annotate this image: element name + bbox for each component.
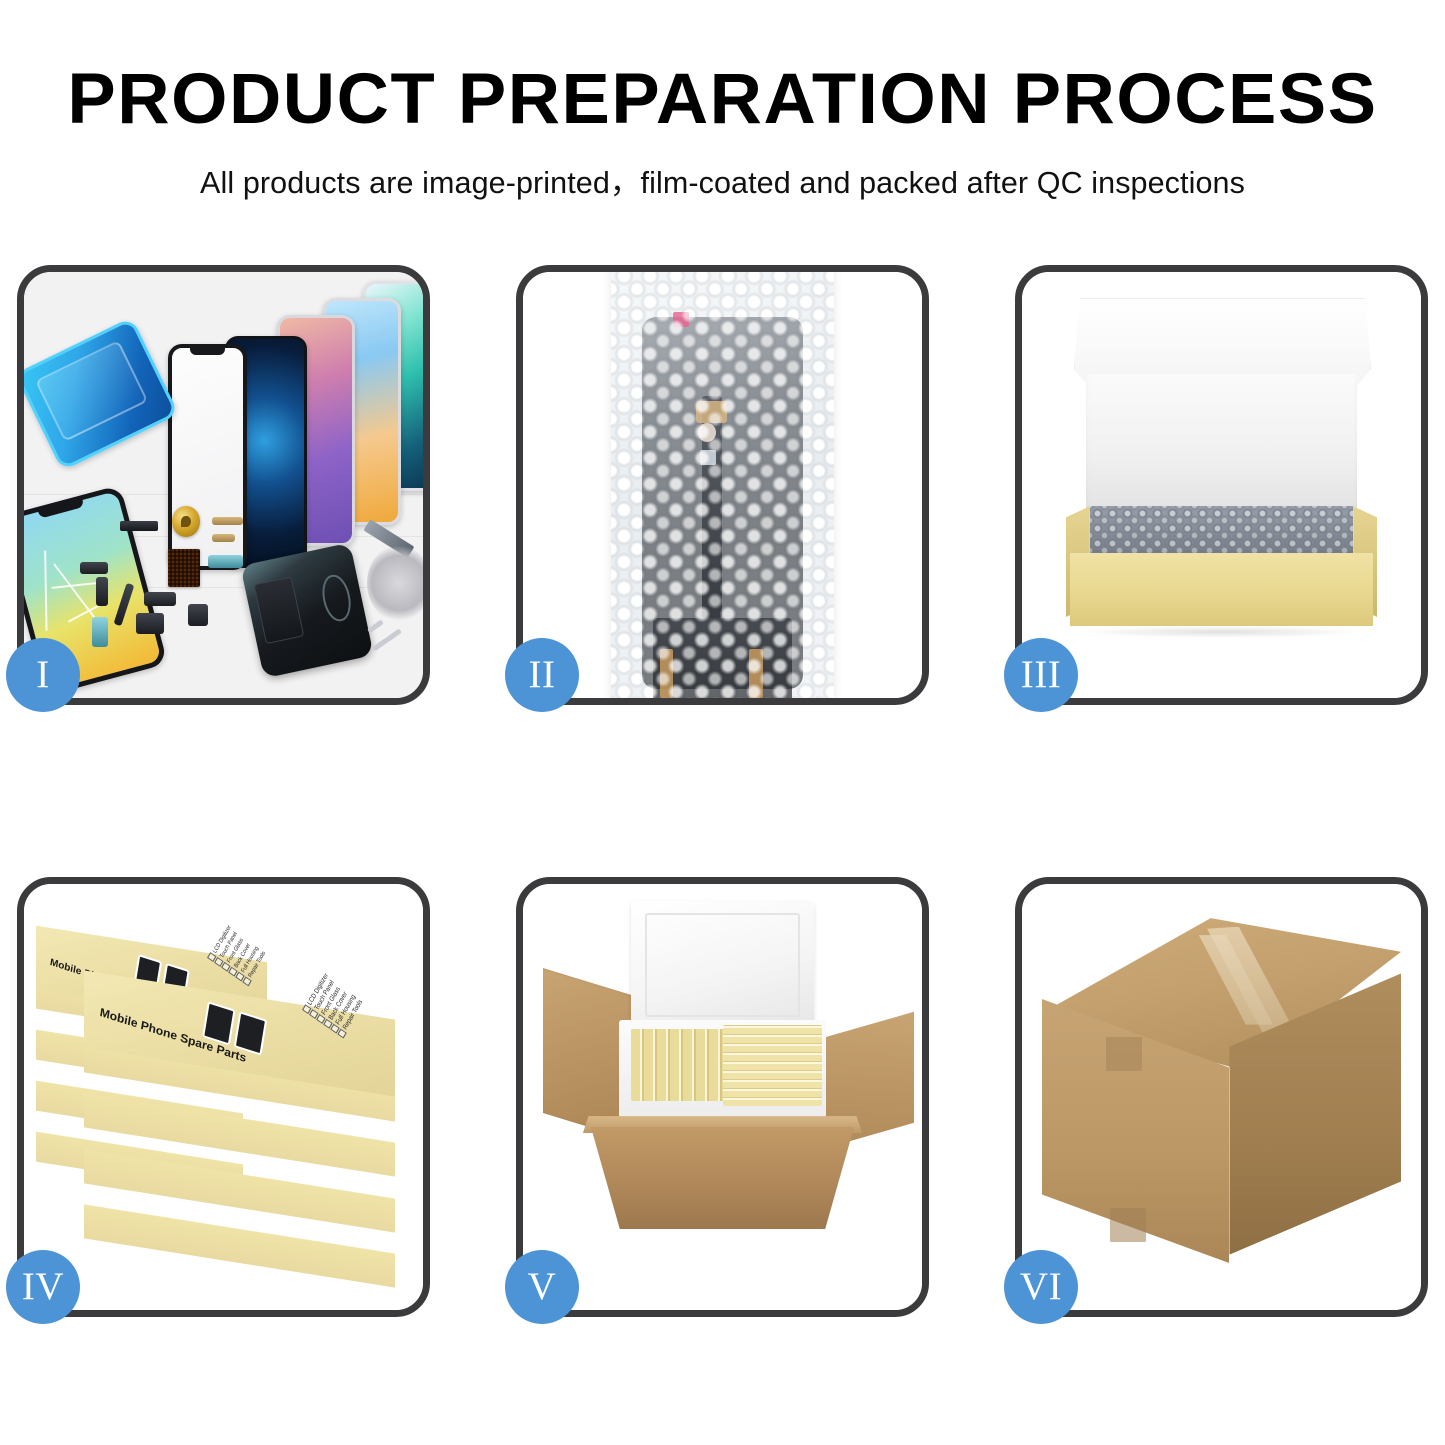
flex-cable-1	[212, 517, 244, 525]
phone-parts-scene	[24, 272, 423, 698]
box-checklist-rear: LCD Digitizer Touch Panel Front Glass Ba…	[207, 924, 268, 987]
earpiece-mesh-component	[120, 521, 158, 531]
step-badge-2: II	[505, 638, 579, 712]
step-4-image: Mobile Phone Spare Parts LCD Digitizer T…	[24, 884, 423, 1310]
qc-label-sticker	[673, 312, 689, 327]
box-checklist-front: LCD Digitizer Touch Panel Front Glass Ba…	[302, 971, 365, 1037]
sensor-module	[188, 604, 208, 625]
adhesive-back-frame	[24, 317, 179, 471]
carton-body	[591, 1127, 854, 1229]
wrapped-tab-right	[749, 649, 762, 698]
step-badge-1: I	[6, 638, 80, 712]
sealed-carton-scene	[1022, 884, 1421, 1310]
front-glass-panel	[168, 344, 248, 569]
step-badge-3: III	[1004, 638, 1078, 712]
step-5-image	[523, 884, 922, 1310]
styrofoam-lid	[631, 901, 815, 1029]
teal-flex-cable	[208, 555, 244, 568]
wrapped-lcd-base	[653, 618, 792, 698]
open-box-scene	[1022, 272, 1421, 698]
carton-packing-scene	[523, 884, 922, 1310]
step-2-image	[523, 272, 922, 698]
box-thumb-4	[234, 1011, 267, 1055]
wrapped-ic-pad	[700, 450, 716, 466]
connector-block-1	[80, 562, 108, 575]
polishing-pad	[367, 545, 423, 622]
box-front-panel	[1070, 553, 1373, 625]
connector-block-2	[96, 577, 108, 607]
box-thumb-3	[202, 1001, 235, 1045]
step-6-image	[1022, 884, 1421, 1310]
step-1-image	[24, 272, 423, 698]
process-steps-grid: I II	[17, 265, 1428, 1317]
wrapped-home-button	[698, 423, 716, 442]
speaker-component	[172, 506, 201, 537]
process-step-1: I	[17, 265, 430, 705]
sim-tray	[92, 617, 108, 647]
tape-seal-lower	[1110, 1208, 1146, 1242]
page-title: PRODUCT PREPARATION PROCESS	[0, 64, 1445, 135]
process-step-2: II	[516, 265, 929, 705]
white-foam-sheet	[1086, 374, 1357, 510]
bubble-wrap-bag	[611, 272, 834, 698]
phone-chassis-teardown	[241, 543, 374, 679]
page-header: PRODUCT PREPARATION PROCESS All products…	[0, 0, 1445, 202]
process-step-6: VI	[1015, 877, 1428, 1317]
step-badge-5: V	[505, 1250, 579, 1324]
process-step-4: Mobile Phone Spare Parts LCD Digitizer T…	[17, 877, 430, 1317]
step-badge-4: IV	[6, 1250, 80, 1324]
tape-seal-upper	[1106, 1037, 1142, 1071]
screws-group	[367, 621, 411, 651]
ic-chip-component	[168, 549, 200, 587]
packed-boxes-row-2	[723, 1025, 823, 1106]
box-stack-scene: Mobile Phone Spare Parts LCD Digitizer T…	[24, 884, 423, 1310]
grey-bubble-padding	[1090, 506, 1353, 557]
wrapped-tab-left	[660, 649, 673, 698]
process-step-5: V	[516, 877, 929, 1317]
vibration-motor	[144, 592, 176, 607]
page-subtitle: All products are image-printed，film-coat…	[0, 158, 1445, 202]
camera-module	[136, 613, 164, 634]
box-shadow	[1078, 626, 1365, 639]
flex-cable-2	[212, 534, 236, 542]
bubble-wrap-scene	[523, 272, 922, 698]
process-step-3: III	[1015, 265, 1428, 705]
step-badge-6: VI	[1004, 1250, 1078, 1324]
step-3-image	[1022, 272, 1421, 698]
wrapped-connector	[696, 401, 727, 423]
